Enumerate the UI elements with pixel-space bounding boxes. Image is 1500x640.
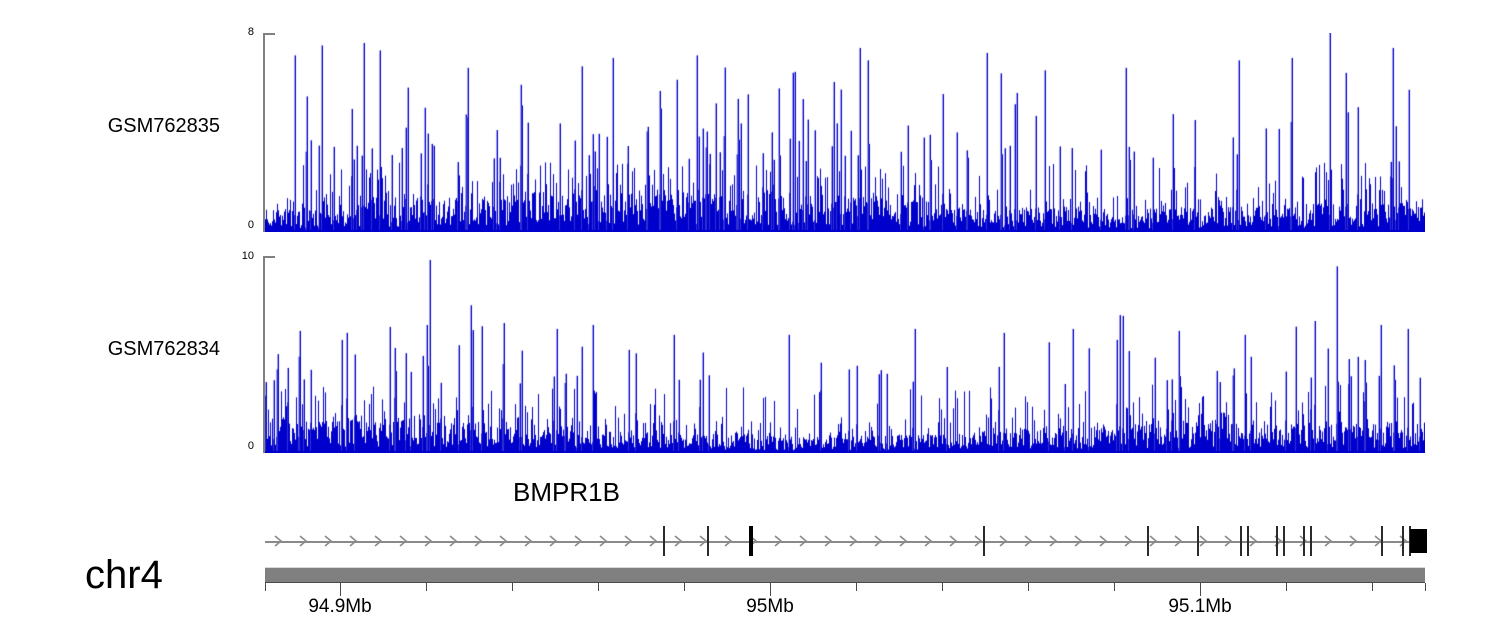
ruler-tick: [1028, 583, 1029, 591]
gene-exon: [1402, 526, 1404, 556]
ruler-tick-label-2: 95.1Mb: [1168, 596, 1231, 618]
ruler-tick: [770, 583, 771, 596]
gene-exon-group: [265, 524, 1427, 560]
coverage-plot-gsm762835[interactable]: [265, 33, 1425, 232]
gene-name-label[interactable]: BMPR1B: [513, 477, 620, 508]
ruler-tick: [426, 583, 427, 591]
ruler-tick-label-1: 95Mb: [746, 596, 794, 618]
gene-exon: [1147, 526, 1149, 556]
ruler-tick: [598, 583, 599, 591]
gene-exon: [1240, 526, 1242, 556]
track1-axis-max-label: 8: [210, 26, 254, 38]
ruler-tick: [265, 583, 266, 591]
ruler-tick-label-0: 94.9Mb: [308, 596, 371, 618]
track2-axis-max-label: 10: [204, 250, 254, 262]
ruler-tick: [340, 583, 341, 596]
track1-axis-min-label: 0: [210, 219, 254, 231]
ruler-tick: [684, 583, 685, 591]
track-label-gsm762835: GSM762835: [30, 115, 220, 138]
ruler-tick: [856, 583, 857, 591]
gene-exon: [1276, 526, 1278, 556]
gene-terminal-exon-block: [1410, 529, 1427, 553]
coverage-plot-gsm762834[interactable]: [265, 256, 1425, 453]
ruler-tick: [1286, 583, 1287, 591]
track2-axis-min-label: 0: [204, 440, 254, 452]
gene-exon: [1197, 526, 1199, 556]
ruler-tick: [1200, 583, 1201, 596]
ruler-tick: [1425, 583, 1426, 591]
gene-exon: [1247, 526, 1249, 556]
gene-exon: [983, 526, 985, 556]
gene-exon: [1310, 526, 1312, 556]
ruler-tick: [942, 583, 943, 591]
gene-model-track[interactable]: [265, 524, 1427, 560]
track-label-gsm762834: GSM762834: [30, 338, 220, 361]
gene-exon: [1283, 526, 1285, 556]
ruler-tick: [1372, 583, 1373, 591]
chromosome-ideogram-bar[interactable]: [265, 567, 1425, 583]
gene-exon: [663, 526, 665, 556]
gene-exon: [707, 526, 709, 556]
ruler-tick: [1114, 583, 1115, 591]
ruler-tick: [512, 583, 513, 591]
gene-exon: [1303, 526, 1305, 556]
gene-exon: [749, 526, 753, 556]
gene-exon: [1381, 526, 1383, 556]
ruler-ticks: [0, 583, 1500, 597]
